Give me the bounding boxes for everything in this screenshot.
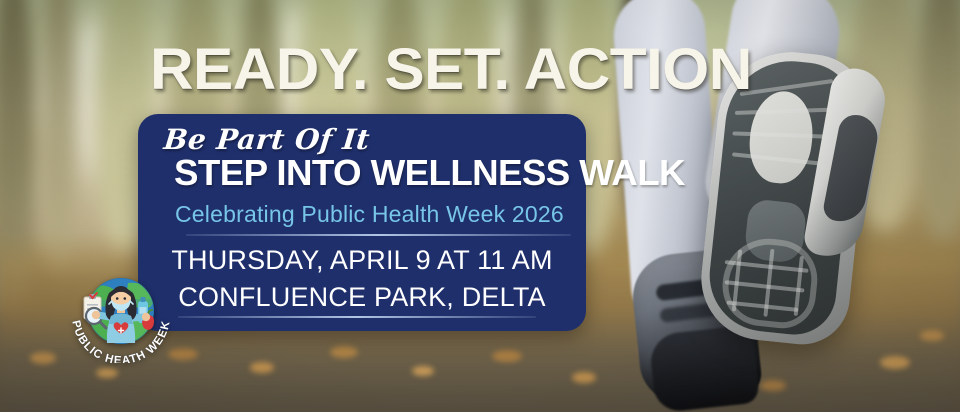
fallen-leaf <box>412 366 434 376</box>
fallen-leaf <box>572 372 596 383</box>
fallen-leaf <box>492 350 522 362</box>
divider-top <box>186 234 571 236</box>
event-subtitle: Celebrating Public Health Week 2026 <box>175 201 564 228</box>
event-datetime: THURSDAY, APRIL 9 AT 11 AM <box>138 245 586 276</box>
fallen-leaf <box>96 368 118 378</box>
fallen-leaf <box>330 346 358 358</box>
divider-bottom <box>178 316 536 318</box>
fallen-leaf <box>30 352 56 364</box>
tree-trunk <box>42 0 76 270</box>
page-title: READY. SET. ACTION <box>150 41 752 99</box>
public-health-week-logo: PUBLIC HEATH WEEK <box>62 271 180 363</box>
event-location: CONFLUENCE PARK, DELTA <box>138 282 586 313</box>
fallen-leaf <box>250 362 274 373</box>
event-title: STEP INTO WELLNESS WALK <box>174 155 685 191</box>
event-banner: READY. SET. ACTION Be Part Of It STEP IN… <box>0 0 960 412</box>
event-info-panel: Be Part Of It STEP INTO WELLNESS WALK Ce… <box>138 114 586 331</box>
